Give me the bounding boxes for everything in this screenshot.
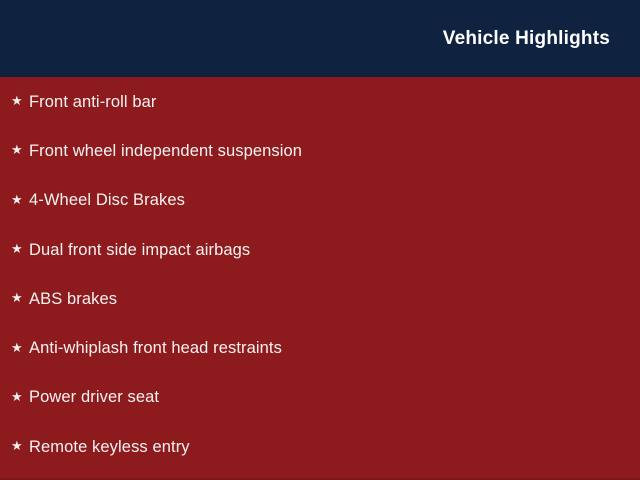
header-bar: Vehicle Highlights — [0, 0, 640, 77]
highlights-panel: ★ Front anti-roll bar ★ Front wheel inde… — [0, 77, 640, 480]
list-item: ★ 4-Wheel Disc Brakes — [0, 176, 640, 225]
list-item: ★ Power driver seat — [0, 373, 640, 422]
highlight-label: Dual front side impact airbags — [29, 240, 250, 260]
star-bullet-icon: ★ — [11, 143, 29, 156]
list-item: ★ ABS brakes — [0, 274, 640, 323]
star-bullet-icon: ★ — [11, 341, 29, 354]
highlight-label: 4-Wheel Disc Brakes — [29, 190, 185, 210]
star-bullet-icon: ★ — [11, 439, 29, 452]
list-item: ★ Anti-whiplash front head restraints — [0, 323, 640, 372]
highlight-label: Power driver seat — [29, 387, 159, 407]
highlight-label: ABS brakes — [29, 289, 117, 309]
list-item: ★ Front anti-roll bar — [0, 77, 640, 126]
star-bullet-icon: ★ — [11, 193, 29, 206]
highlight-label: Front anti-roll bar — [29, 92, 157, 112]
star-bullet-icon: ★ — [11, 291, 29, 304]
list-item: ★ Dual front side impact airbags — [0, 225, 640, 274]
highlight-label: Remote keyless entry — [29, 437, 190, 457]
highlights-list: ★ Front anti-roll bar ★ Front wheel inde… — [0, 77, 640, 471]
star-bullet-icon: ★ — [11, 242, 29, 255]
star-bullet-icon: ★ — [11, 390, 29, 403]
highlight-label: Anti-whiplash front head restraints — [29, 338, 282, 358]
page-title: Vehicle Highlights — [443, 27, 610, 51]
highlight-label: Front wheel independent suspension — [29, 141, 302, 161]
vehicle-highlights-slide: Vehicle Highlights ★ Front anti-roll bar… — [0, 0, 640, 480]
list-item: ★ Remote keyless entry — [0, 422, 640, 471]
list-item: ★ Front wheel independent suspension — [0, 126, 640, 175]
star-bullet-icon: ★ — [11, 94, 29, 107]
